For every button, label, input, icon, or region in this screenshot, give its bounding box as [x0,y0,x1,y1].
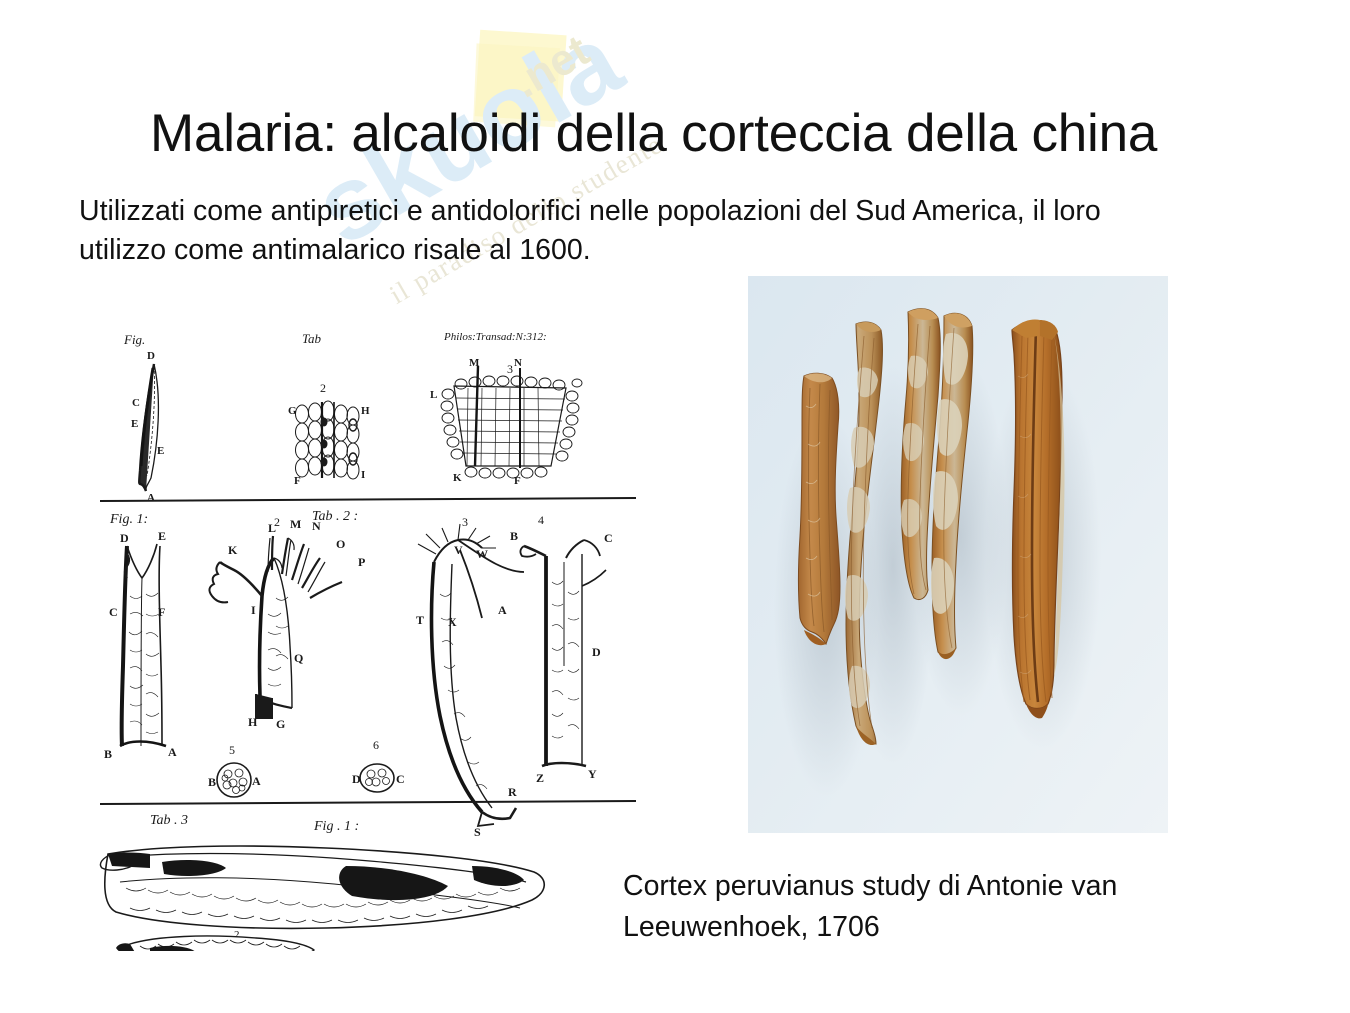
engraving-letter-K: K [453,472,462,484]
engraving-letter-X: X [448,615,457,629]
engraving-letter-F2: F [514,475,521,487]
body-line-1: Utilizzati come antipiretici e antidolor… [79,192,1189,231]
engraving-letter-G2: G [276,717,285,731]
engraving-letter-B: B [104,747,112,761]
engraving-letter-C3: C [396,772,405,786]
caption-line-2: Leeuwenhoek, 1706 [623,907,1243,948]
engraving-letter-M: M [469,357,480,369]
engraving-letter-I2: I [251,603,256,617]
engraving-number-3b: 3 [462,515,468,529]
engraving-letter-I: I [361,469,365,481]
engraving-letter-M2: M [290,517,301,531]
engraving-letter-Q: Q [294,651,303,665]
engraving-letter-B3: B [510,529,518,543]
cortex-peruvianus-engraving: Fig. Tab Philos:Transad:N:312: D C E E A… [96,326,662,951]
engraving-letter-L: L [430,389,437,401]
skuola-net-watermark: skuola .net il paradiso dello studente [300,10,700,350]
photo-caption: Cortex peruvianus study di Antonie van L… [623,866,1243,948]
engraving-letter-B2: B [208,775,216,789]
engraving-label-fig1: Fig. [123,332,145,347]
engraving-letter-Z: Z [536,771,544,785]
engraving-number-4: 4 [538,513,544,527]
engraving-letter-V: V [454,543,463,557]
caption-line-1: Cortex peruvianus study di Antonie van [623,866,1243,907]
engraving-label-journal: Philos:Transad:N:312: [443,331,547,343]
engraving-letter-R: R [508,785,517,799]
engraving-letter-E1: E [131,418,138,430]
engraving-number-2: 2 [320,381,326,395]
engraving-letter-D: D [147,350,155,362]
engraving-letter-A: A [147,492,155,504]
engraving-letter-K2: K [228,543,238,557]
engraving-label-tab1: Tab [302,331,322,346]
body-line-2: utilizzo come antimalarico risale al 160… [79,231,1189,270]
engraving-letter-A4: A [498,603,507,617]
engraving-number-5: 5 [229,743,235,757]
engraving-label-fig3: Fig . 1 : [313,819,359,834]
engraving-letter-E3: E [158,529,166,543]
engraving-letter-C: C [132,397,140,409]
watermark-suffix-text: .net [505,26,598,108]
engraving-label-tab3: Tab . 3 [150,813,188,828]
engraving-letter-L2: L [268,521,276,535]
engraving-number-3: 3 [507,362,513,376]
engraving-letter-N: N [514,357,522,369]
cinchona-bark-photo [748,276,1168,833]
engraving-letter-H2: H [248,715,258,729]
engraving-letter-A2: A [168,745,177,759]
engraving-letter-F3: F [158,605,165,619]
engraving-number-6: 6 [373,738,379,752]
body-paragraph: Utilizzati come antipiretici e antidolor… [79,192,1189,270]
engraving-letter-C2: C [109,605,118,619]
bark-piece-1 [799,373,841,645]
engraving-letter-D3: D [352,772,361,786]
engraving-letter-Y: Y [588,767,597,781]
engraving-letter-T: T [416,613,424,627]
engraving-letter-W: W [476,547,488,561]
engraving-letter-S: S [474,825,481,839]
engraving-letter-D4: D [592,645,601,659]
engraving-letter-A3: A [252,774,261,788]
bark-piece-4 [1012,319,1065,718]
page-title: Malaria: alcaloidi della corteccia della… [150,104,1270,163]
engraving-letter-C4: C [604,531,613,545]
engraving-letter-D2: D [120,531,129,545]
engraving-letter-E2: E [157,445,164,457]
engraving-label-fig2: Fig. 1: [109,512,148,527]
engraving-letter-O: O [336,537,345,551]
engraving-letter-N2: N [312,519,321,533]
engraving-letter-G: G [288,405,297,417]
engraving-letter-P: P [358,555,365,569]
slide-canvas: skuola .net il paradiso dello studente M… [0,0,1350,1013]
engraving-letter-H: H [361,405,370,417]
engraving-letter-F: F [294,475,301,487]
